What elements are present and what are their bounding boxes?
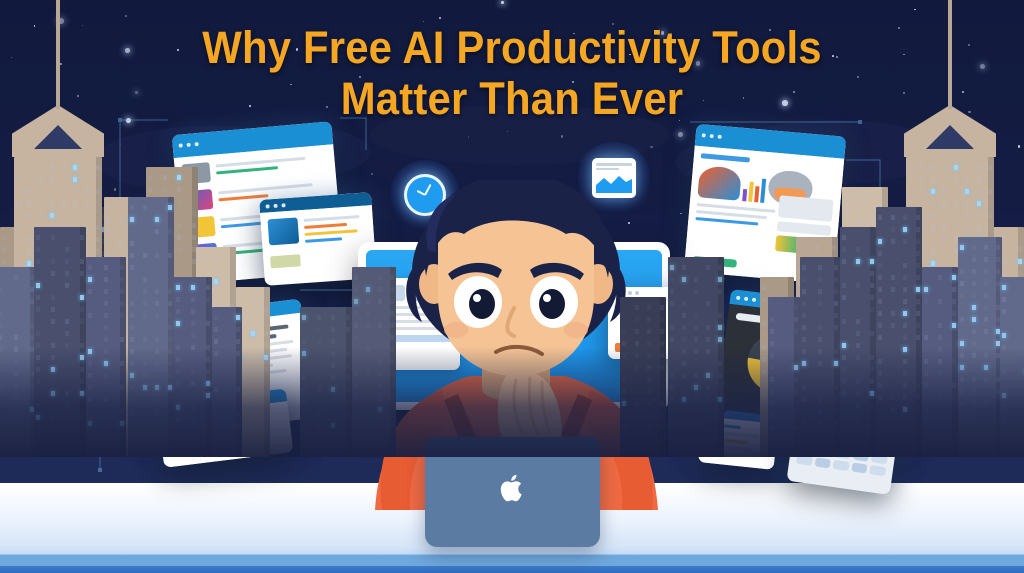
building-window xyxy=(1003,235,1007,240)
building-window xyxy=(73,177,77,182)
building-window xyxy=(802,313,806,318)
building-window xyxy=(682,313,686,318)
building-window xyxy=(346,327,350,332)
building-window xyxy=(0,323,2,328)
building-window xyxy=(80,307,84,312)
crown-glass xyxy=(34,125,82,149)
building-window xyxy=(931,165,935,170)
building-window xyxy=(130,253,134,258)
building-window xyxy=(916,263,920,268)
window-dot xyxy=(187,143,191,147)
building-window xyxy=(660,305,664,310)
building-window xyxy=(65,259,69,264)
building-window xyxy=(96,165,100,170)
building-window xyxy=(647,317,651,322)
building-window xyxy=(960,281,964,286)
building-window xyxy=(856,247,860,252)
building-window xyxy=(670,325,674,330)
building-window xyxy=(891,215,895,220)
building-window xyxy=(191,309,195,314)
building-window xyxy=(130,325,134,330)
building-window xyxy=(390,287,394,292)
text-line xyxy=(701,153,750,162)
building-window xyxy=(168,205,172,210)
building-window xyxy=(938,275,942,280)
building-window xyxy=(73,213,77,218)
building-window xyxy=(192,211,196,216)
building-window xyxy=(891,311,895,316)
building-window xyxy=(842,247,846,252)
building-window xyxy=(27,165,31,170)
building-window xyxy=(670,265,674,270)
building-window xyxy=(106,241,110,246)
building-window xyxy=(977,225,981,230)
building-window xyxy=(2,259,6,264)
building-window xyxy=(857,195,861,200)
building-window xyxy=(960,245,964,250)
building-window xyxy=(984,281,988,286)
building-window xyxy=(65,331,69,336)
building-window xyxy=(104,289,108,294)
building-window xyxy=(931,177,935,182)
building-window xyxy=(960,341,964,346)
building-window xyxy=(857,219,861,224)
building-window xyxy=(96,249,100,254)
building-window xyxy=(834,313,838,318)
building-window xyxy=(206,321,210,326)
building-window xyxy=(214,315,218,320)
building-window xyxy=(794,317,798,322)
building-window xyxy=(176,285,180,290)
building-window xyxy=(924,335,928,340)
building-window xyxy=(938,299,942,304)
building-window xyxy=(50,165,54,170)
building-window xyxy=(51,235,55,240)
building-window xyxy=(120,337,124,342)
grid-cell xyxy=(870,465,887,476)
building-window xyxy=(264,331,268,336)
building-window xyxy=(96,237,100,242)
building-window xyxy=(972,317,976,322)
building-window xyxy=(670,289,674,294)
building-window xyxy=(36,247,40,252)
building-window xyxy=(143,289,147,294)
building-window xyxy=(903,335,907,340)
building-window xyxy=(984,305,988,310)
building-window xyxy=(916,299,920,304)
building-window xyxy=(50,213,54,218)
building-window xyxy=(143,277,147,282)
building-window xyxy=(143,337,147,342)
building-window xyxy=(818,301,822,306)
building-window xyxy=(118,205,122,210)
building-window xyxy=(238,295,242,300)
illustration-shape xyxy=(697,165,742,201)
building-window xyxy=(65,271,69,276)
building-window xyxy=(354,335,358,340)
building-window xyxy=(856,283,860,288)
building-window xyxy=(251,331,255,336)
building-window xyxy=(931,189,935,194)
building-window xyxy=(965,225,969,230)
building-window xyxy=(954,177,958,182)
building-window xyxy=(919,165,923,170)
building-window xyxy=(842,295,846,300)
building-window xyxy=(878,239,882,244)
building-window xyxy=(870,271,874,276)
building-window xyxy=(16,225,20,230)
building-window xyxy=(802,337,806,342)
building-window xyxy=(635,329,639,334)
building-window xyxy=(842,259,846,264)
building-window xyxy=(230,291,234,296)
building-window xyxy=(988,213,992,218)
text-line xyxy=(216,166,278,174)
building-window xyxy=(972,341,976,346)
building-window xyxy=(36,307,40,312)
building-window xyxy=(916,311,920,316)
building-window xyxy=(818,337,822,342)
building-window xyxy=(366,311,370,316)
building-window xyxy=(988,189,992,194)
building-window xyxy=(891,287,895,292)
building-window xyxy=(14,335,18,340)
building-window xyxy=(931,225,935,230)
building-window xyxy=(155,217,159,222)
building-window xyxy=(130,337,134,342)
side-panel xyxy=(777,221,832,236)
building-window xyxy=(870,295,874,300)
building-window xyxy=(916,323,920,328)
building-window xyxy=(168,253,172,258)
building-window xyxy=(965,201,969,206)
window-dot xyxy=(265,204,269,208)
building-window xyxy=(143,301,147,306)
building-window xyxy=(236,339,240,344)
building-window xyxy=(960,293,964,298)
building-window xyxy=(177,223,181,228)
building-window xyxy=(62,201,66,206)
building-window xyxy=(802,289,806,294)
building-window xyxy=(977,201,981,206)
building-window xyxy=(1003,259,1007,264)
building-window xyxy=(972,293,976,298)
building-window xyxy=(73,189,77,194)
building-window xyxy=(984,329,988,334)
building-window xyxy=(891,275,895,280)
building-window xyxy=(903,299,907,304)
building-window xyxy=(120,301,124,306)
building-window xyxy=(88,313,92,318)
building-window xyxy=(916,251,920,256)
building-window xyxy=(85,177,89,182)
building-window xyxy=(214,279,218,284)
building-window xyxy=(942,165,946,170)
building-window xyxy=(88,289,92,294)
building-window xyxy=(718,325,722,330)
building-window xyxy=(794,329,798,334)
building-window xyxy=(952,287,956,292)
building-window xyxy=(972,281,976,286)
building-window xyxy=(148,175,152,180)
building-window xyxy=(682,337,686,342)
building-window xyxy=(118,241,122,246)
text-line xyxy=(218,183,313,194)
building-window xyxy=(192,235,196,240)
building-spire xyxy=(948,0,952,109)
building-window xyxy=(390,275,394,280)
building-window xyxy=(718,313,722,318)
building-window xyxy=(104,337,108,342)
building-window xyxy=(143,313,147,318)
building-window xyxy=(694,289,698,294)
building-window xyxy=(984,269,988,274)
window-dot xyxy=(179,144,183,148)
building-window xyxy=(366,299,370,304)
text-line xyxy=(215,156,305,167)
building-window xyxy=(924,299,928,304)
building-window xyxy=(354,311,358,316)
building-window xyxy=(903,275,907,280)
building-window xyxy=(996,269,1000,274)
building-window xyxy=(36,259,40,264)
building-window xyxy=(903,215,907,220)
building-window xyxy=(264,307,268,312)
building-window xyxy=(916,275,920,280)
building-window xyxy=(988,225,992,230)
building-window xyxy=(88,265,92,270)
building-window xyxy=(96,189,100,194)
building-window xyxy=(818,289,822,294)
building-window xyxy=(302,339,306,344)
building-window xyxy=(130,217,134,222)
building-window xyxy=(27,261,31,266)
building-window xyxy=(366,323,370,328)
building-window xyxy=(1002,309,1006,314)
building-window xyxy=(120,265,124,270)
building-window xyxy=(378,299,382,304)
building-window xyxy=(834,289,838,294)
building-window xyxy=(1018,271,1022,276)
building-window xyxy=(214,255,218,260)
building-window xyxy=(834,301,838,306)
building-window xyxy=(802,325,806,330)
building-window xyxy=(51,259,55,264)
building-window xyxy=(924,287,928,292)
building-window xyxy=(198,255,202,260)
building-window xyxy=(682,277,686,282)
building-window xyxy=(168,337,172,342)
building-window xyxy=(916,335,920,340)
foreground-buildings xyxy=(0,347,1024,457)
building-window xyxy=(177,175,181,180)
building-window xyxy=(647,305,651,310)
building-window xyxy=(844,195,848,200)
building-window xyxy=(794,305,798,310)
building-window xyxy=(27,249,31,254)
building-window xyxy=(177,187,181,192)
building-window xyxy=(85,189,89,194)
building-window xyxy=(346,315,350,320)
building-window xyxy=(168,229,172,234)
building-window xyxy=(176,297,180,302)
building-window xyxy=(802,265,806,270)
building-window xyxy=(942,249,946,254)
building-window xyxy=(682,325,686,330)
building-window xyxy=(842,283,846,288)
building-window xyxy=(869,219,873,224)
building-window xyxy=(706,325,710,330)
building-window xyxy=(942,225,946,230)
building-window xyxy=(236,327,240,332)
building-window xyxy=(984,257,988,262)
building-window xyxy=(622,329,626,334)
building-window xyxy=(682,265,686,270)
building-window xyxy=(694,277,698,282)
building-window xyxy=(104,277,108,282)
building-window xyxy=(16,165,20,170)
building-window xyxy=(891,323,895,328)
building-window xyxy=(390,299,394,304)
building-window xyxy=(972,305,976,310)
building-window xyxy=(878,251,882,256)
building-window xyxy=(954,201,958,206)
building-window xyxy=(80,271,84,276)
building-window xyxy=(931,261,935,266)
building-window xyxy=(1003,271,1007,276)
building-window xyxy=(844,207,848,212)
building-window xyxy=(36,235,40,240)
building-window xyxy=(706,337,710,342)
building-window xyxy=(65,319,69,324)
building-window xyxy=(856,319,860,324)
building-window xyxy=(762,321,766,326)
building-window xyxy=(965,189,969,194)
building-window xyxy=(27,189,31,194)
building-window xyxy=(2,235,6,240)
building-window xyxy=(96,225,100,230)
building-window xyxy=(984,317,988,322)
building-window xyxy=(118,229,122,234)
hero-illustration: Why Free AI Productivity Tools Matter Th… xyxy=(0,0,1024,573)
building-window xyxy=(191,297,195,302)
building-window xyxy=(191,285,195,290)
building-window xyxy=(51,295,55,300)
building-window xyxy=(176,321,180,326)
building-window xyxy=(916,239,920,244)
text-line xyxy=(218,194,268,201)
building-window xyxy=(104,301,108,306)
building-window xyxy=(878,323,882,328)
building-window xyxy=(908,201,912,206)
window-dot xyxy=(281,203,285,207)
building-window xyxy=(16,189,20,194)
building-window xyxy=(931,249,935,254)
window-dot xyxy=(273,203,277,207)
building-window xyxy=(130,241,134,246)
building-window xyxy=(762,285,766,290)
building-window xyxy=(317,327,321,332)
building-window xyxy=(36,283,40,288)
building-window xyxy=(878,299,882,304)
building-window xyxy=(952,323,956,328)
building-window xyxy=(842,235,846,240)
side-panel xyxy=(778,195,834,222)
building-window xyxy=(50,201,54,206)
building-window xyxy=(80,259,84,264)
building-window xyxy=(903,323,907,328)
building-window xyxy=(0,287,2,292)
building-window xyxy=(818,277,822,282)
building-window xyxy=(834,265,838,270)
building-window xyxy=(916,227,920,232)
building-window xyxy=(206,297,210,302)
building-window xyxy=(2,247,6,252)
building-window xyxy=(118,217,122,222)
building-window xyxy=(168,301,172,306)
building-window xyxy=(977,189,981,194)
building-window xyxy=(878,311,882,316)
building-window xyxy=(660,329,664,334)
window-dot xyxy=(702,133,706,137)
grid-cell xyxy=(833,460,850,471)
building-window xyxy=(317,339,321,344)
building-window xyxy=(206,285,210,290)
building-window xyxy=(718,337,722,342)
detail-illustration xyxy=(268,217,300,245)
building-window xyxy=(390,335,394,340)
building-window xyxy=(36,295,40,300)
building-window xyxy=(802,301,806,306)
building-window xyxy=(14,275,18,280)
building-window xyxy=(0,311,2,316)
window-dot xyxy=(744,296,748,300)
building-window xyxy=(65,283,69,288)
building-window xyxy=(251,295,255,300)
building-window xyxy=(155,337,159,342)
building-window xyxy=(952,299,956,304)
building-window xyxy=(130,265,134,270)
building-window xyxy=(931,213,935,218)
building-window xyxy=(130,313,134,318)
building-window xyxy=(931,201,935,206)
building-window xyxy=(176,309,180,314)
building-window xyxy=(317,315,321,320)
building-window xyxy=(0,335,2,340)
building-window xyxy=(856,331,860,336)
building-window xyxy=(942,201,946,206)
building-window xyxy=(919,189,923,194)
building-window xyxy=(770,329,774,334)
window-dot xyxy=(718,135,722,139)
building-window xyxy=(988,201,992,206)
building-window xyxy=(16,177,20,182)
building-window xyxy=(331,327,335,332)
building-window xyxy=(130,301,134,306)
building-window xyxy=(977,177,981,182)
building-window xyxy=(670,301,674,306)
building-window xyxy=(65,247,69,252)
building-window xyxy=(168,313,172,318)
building-window xyxy=(27,237,31,242)
building-window xyxy=(802,277,806,282)
building-window xyxy=(163,187,167,192)
building-window xyxy=(1002,297,1006,302)
building-window xyxy=(155,301,159,306)
building-window xyxy=(903,287,907,292)
building-window xyxy=(878,215,882,220)
building-window xyxy=(972,257,976,262)
